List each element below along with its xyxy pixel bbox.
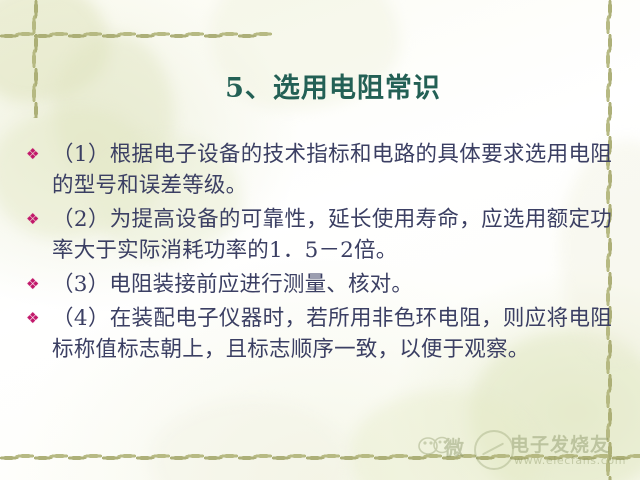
diamond-bullet-icon: ❖ — [26, 269, 52, 300]
bullet-list: ❖ （1）根据电子设备的技术指标和电路的具体要求选用电阻的型号和误差等级。 ❖ … — [26, 139, 612, 368]
diamond-bullet-icon: ❖ — [26, 303, 52, 334]
slide-canvas: 5、选用电阻常识 ❖ （1）根据电子设备的技术指标和电路的具体要求选用电阻的型号… — [0, 0, 640, 480]
list-item: ❖ （2）为提高设备的可靠性，延长使用寿命，应选用额定功率大于实际消耗功率的1．… — [26, 204, 612, 266]
slide-title: 5、选用电阻常识 — [199, 66, 441, 105]
title-area: 5、选用电阻常识 — [0, 66, 640, 105]
decorative-wavy-line-bottom — [0, 452, 640, 463]
list-item-text: （1）根据电子设备的技术指标和电路的具体要求选用电阻的型号和误差等级。 — [52, 139, 612, 201]
list-item: ❖ （3）电阻装接前应进行测量、核对。 — [26, 269, 612, 300]
diamond-bullet-icon: ❖ — [26, 204, 52, 235]
diamond-bullet-icon: ❖ — [26, 139, 52, 170]
list-item: ❖ （4）在装配电子仪器时，若所用非色环电阻，则应将电阻标称值标志朝上，且标志顺… — [26, 303, 612, 365]
list-item-text: （3）电阻装接前应进行测量、核对。 — [52, 269, 612, 300]
list-item-text: （2）为提高设备的可靠性，延长使用寿命，应选用额定功率大于实际消耗功率的1．5－… — [52, 204, 612, 266]
list-item: ❖ （1）根据电子设备的技术指标和电路的具体要求选用电阻的型号和误差等级。 — [26, 139, 612, 201]
list-item-text: （4）在装配电子仪器时，若所用非色环电阻，则应将电阻标称值标志朝上，且标志顺序一… — [52, 303, 612, 365]
